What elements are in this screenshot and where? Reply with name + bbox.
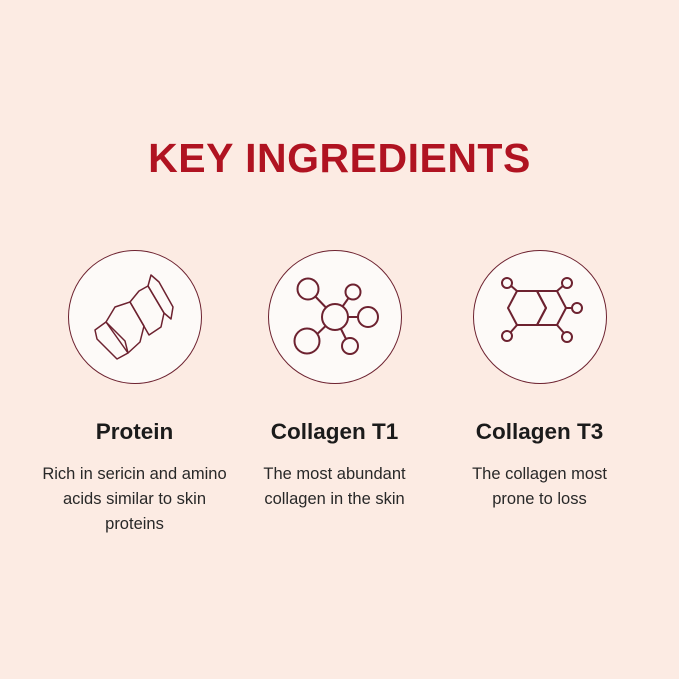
icon-circle-collagen-t1 (268, 250, 402, 384)
ingredient-title: Collagen T1 (271, 420, 399, 445)
ingredient-description: The most abundant collagen in the skin (244, 462, 426, 512)
ingredient-description: The collagen most prone to loss (452, 462, 628, 512)
page-title: KEY INGREDIENTS (0, 138, 679, 179)
icon-circle-protein (68, 250, 202, 384)
ingredient-card-list: Protein Rich in sericin and amino acids … (0, 250, 679, 537)
molecule-icon (289, 271, 381, 363)
ingredient-title: Protein (96, 420, 174, 445)
key-ingredients-panel: KEY INGREDIENTS Protein Rich in sericin … (0, 0, 679, 679)
ingredient-card-collagen-t3: Collagen T3 The collagen most prone to l… (435, 250, 645, 512)
ingredient-title: Collagen T3 (476, 420, 604, 445)
ingredient-description: Rich in sericin and amino acids similar … (42, 462, 228, 537)
silk-ribbon-icon (87, 269, 183, 365)
ingredient-card-collagen-t1: Collagen T1 The most abundant collagen i… (235, 250, 435, 512)
icon-circle-collagen-t3 (473, 250, 607, 384)
ingredient-card-protein: Protein Rich in sericin and amino acids … (35, 250, 235, 537)
hexagon-compound-icon (494, 271, 586, 363)
